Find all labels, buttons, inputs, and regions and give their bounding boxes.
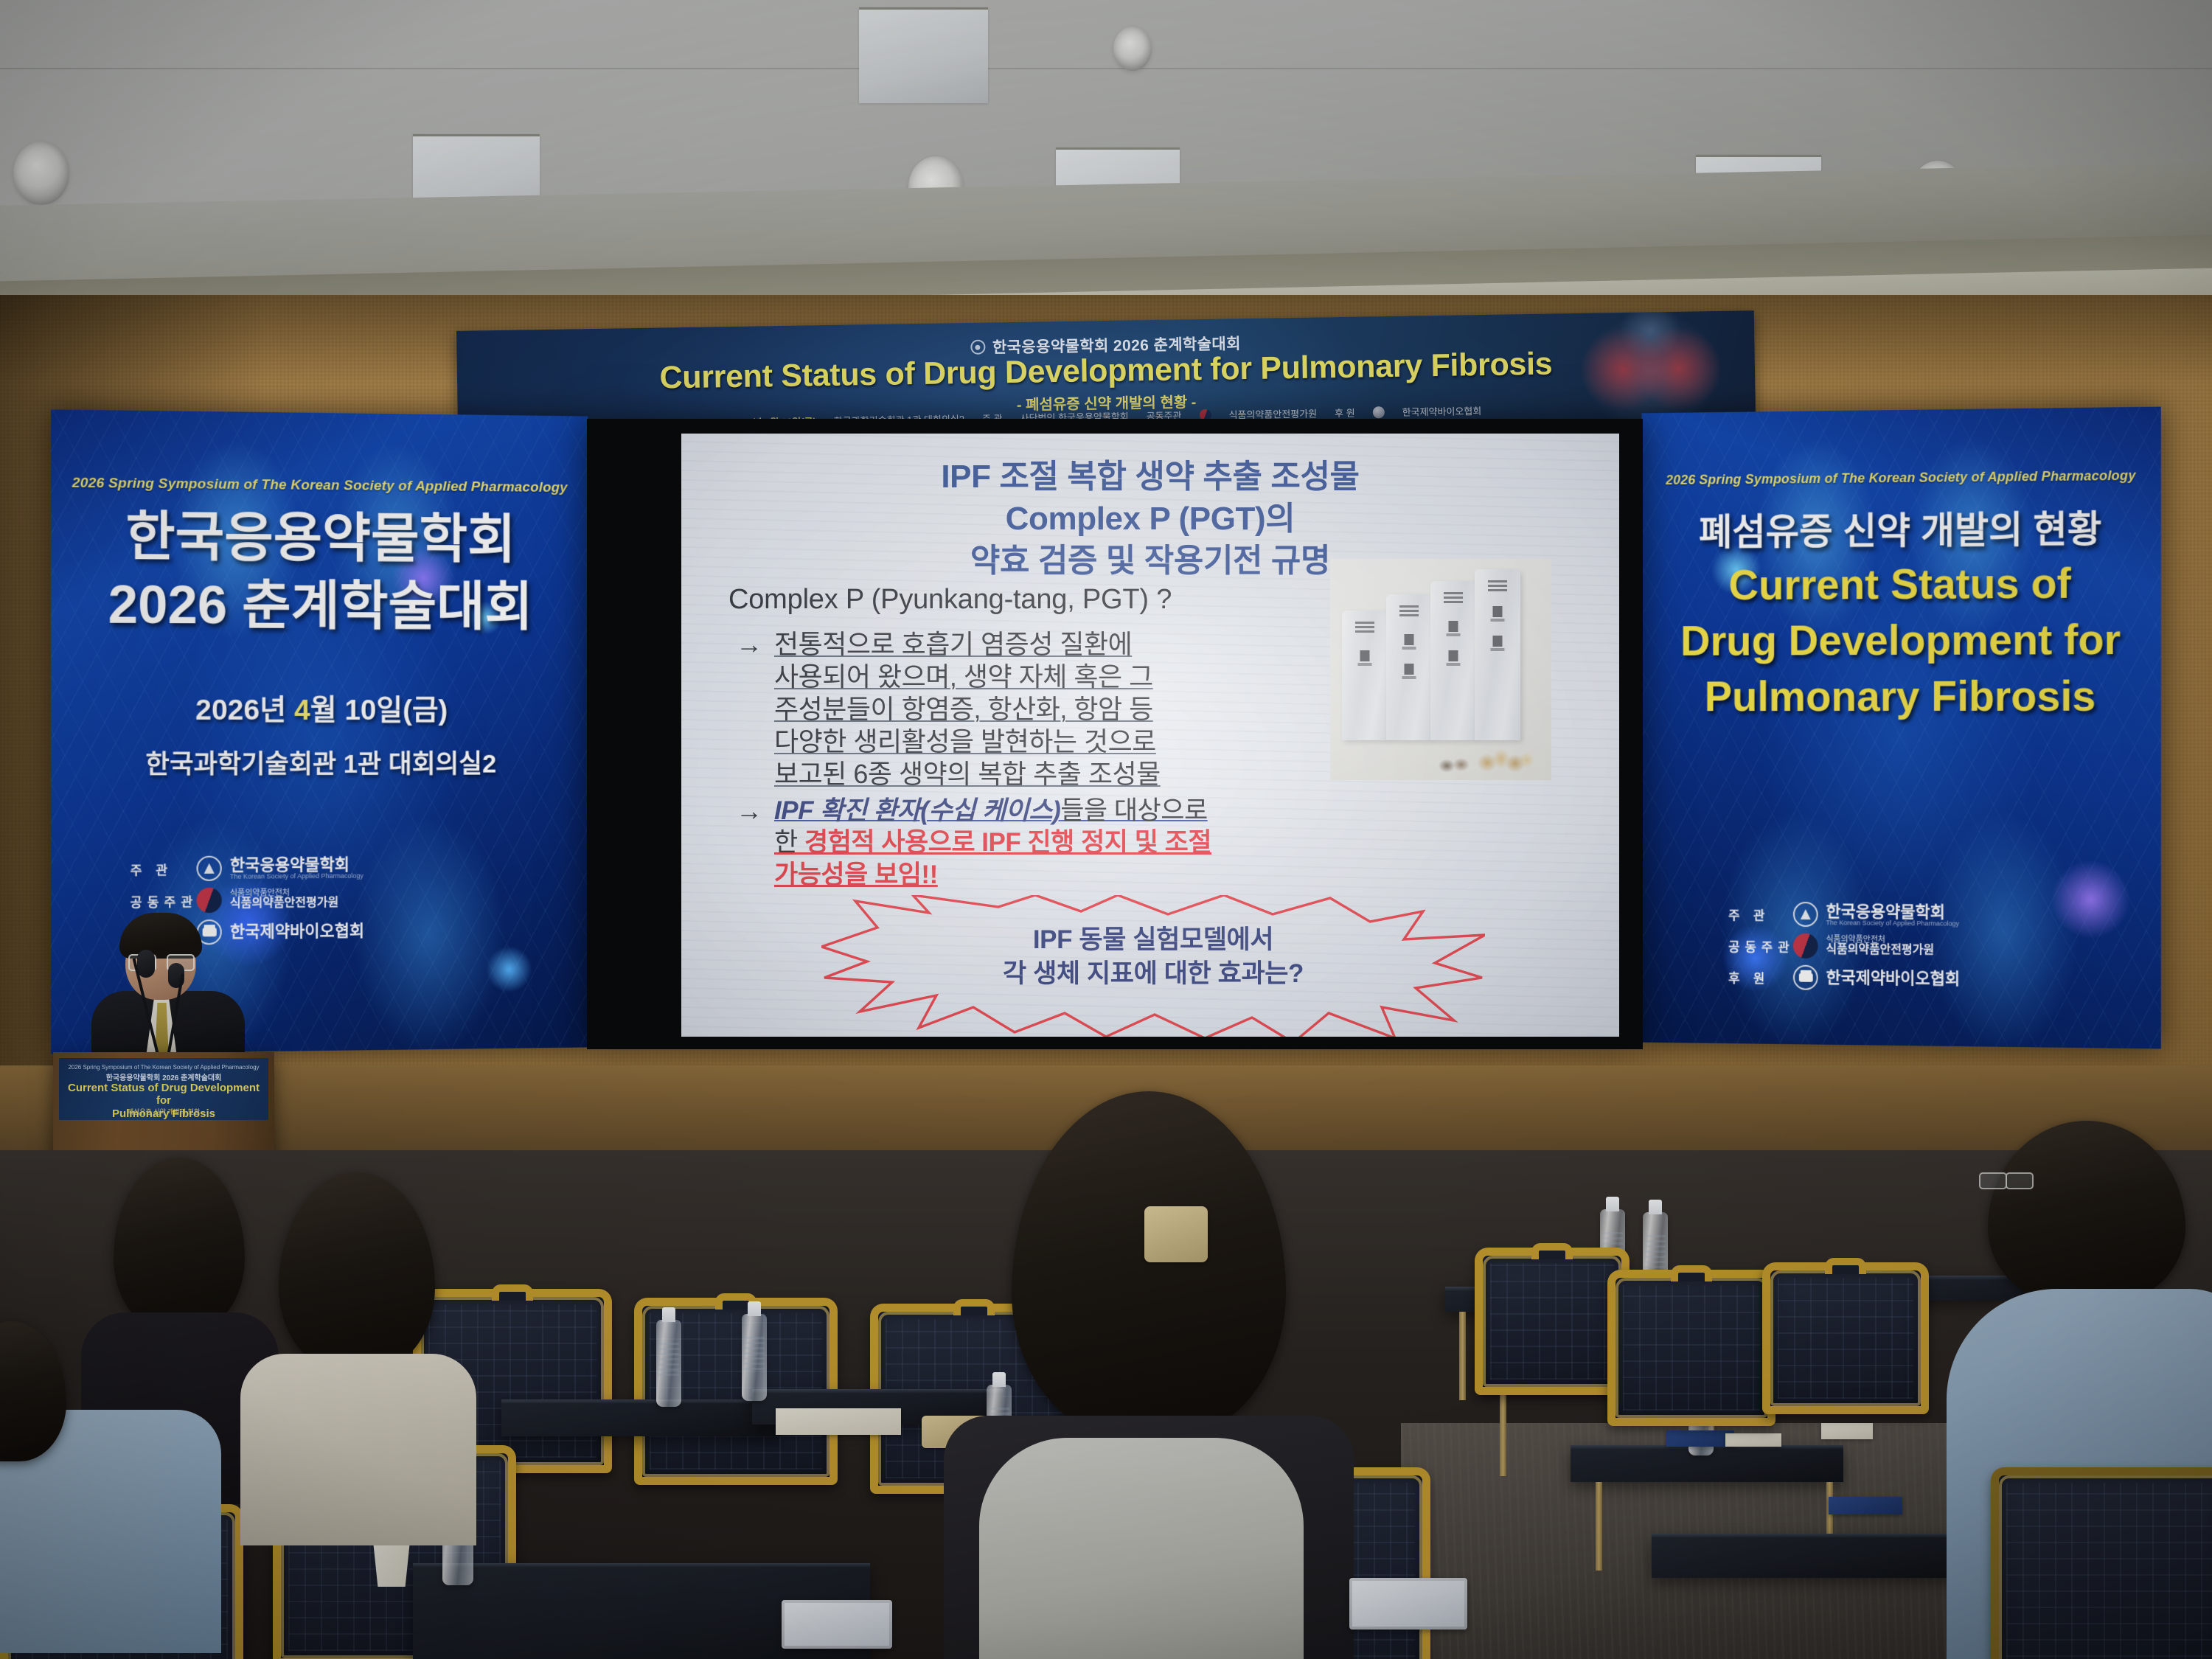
audience-member [936,1091,1349,1659]
slide-bullet-2-text: IPF 확진 환자(수십 케이스)들을 대상으로 한 경험적 사용으로 IPF … [774,795,1211,891]
chair [1762,1262,1929,1414]
callout-line-2: 각 생체 지표에 대한 효과는? [821,957,1485,991]
bullet2-italic-phrase: IPF 확진 환자(수십 케이스) [774,796,1060,825]
right-panel-title-en-2: Drug Development for [1641,615,2160,666]
sponsor-name-host-en: The Korean Society of Applied Pharmacolo… [1826,919,1960,928]
ceiling-vent [859,7,988,103]
ceiling-downlight [13,142,69,205]
ksap-emblem-icon [970,340,985,355]
chair [1991,1467,2212,1659]
sponsor-label-host: 주 관 [131,859,189,878]
sponsor-name-cohost: 식품의약품안전평가원 [230,897,338,911]
sponsor-name-cohost: 식품의약품안전평가원 [1826,945,1935,958]
chair [1607,1270,1775,1426]
handout-paper [1725,1433,1781,1447]
sponsor-label-cohost: 공동주관 [1728,936,1785,956]
glasses-icon [1979,1172,2034,1186]
right-led-display-panel: 2026 Spring Symposium of The Korean Soci… [1641,407,2160,1049]
banner-sponsor-name: 한국제약바이오협회 [1402,403,1481,419]
conference-room-photo: 한국응용약물학회 2026 춘계학술대회 Current Status of D… [0,0,2212,1659]
hair-clip-icon [1144,1206,1208,1262]
laptop [782,1600,892,1649]
sponsor-row-cohost: 공동주관 식품의약품안전처 식품의약품안전평가원 [131,887,364,914]
bullet2-line2-prefix: 한 [774,828,804,857]
slide-bullet-1: → 전통적으로 호흡기 염증성 질환에 사용되어 왔으며, 생약 자체 혹은 그… [736,628,1252,790]
kpbma-logo-icon [1373,406,1385,418]
audience-member [236,1172,479,1519]
speaker-hair [119,913,202,959]
ceiling-seam [0,68,2212,69]
left-panel-venue: 한국과학기술회관 1관 대회의실2 [51,743,588,782]
projected-slide: IPF 조절 복합 생약 추출 조성물 Complex P (PGT)의 약효 … [681,434,1619,1037]
slide-title-line2: Complex P (PGT)의 [681,498,1619,540]
handout-paper [1821,1423,1873,1439]
left-panel-title-line2: 2026 춘계학술대회 [51,575,588,637]
water-bottle [742,1314,767,1401]
korea-gov-icon [197,888,222,913]
bullet2-line3-red: 가능성을 보임!! [774,860,938,889]
sponsor-label-host: 주 관 [1728,905,1785,923]
ksap-emblem-icon [1793,902,1818,927]
lectern-line-1: 2026 Spring Symposium of The Korean Soci… [59,1064,268,1071]
sponsor-name-supporter: 한국제약바이오협회 [230,922,364,941]
slide-bullet-2: → IPF 확진 환자(수십 케이스)들을 대상으로 한 경험적 사용으로 IP… [736,795,1296,891]
right-panel-sponsor-block: 주 관 한국응용약물학회 The Korean Society of Appli… [1728,901,1960,991]
lectern-signage: 2026 Spring Symposium of The Korean Soci… [59,1058,268,1120]
ksap-emblem-icon [197,856,222,881]
bokeh-light [487,947,532,992]
right-panel-title-en-3: Pulmonary Fibrosis [1641,672,2160,721]
sponsor-row-host: 주 관 한국응용약물학회 The Korean Society of Appli… [131,855,364,882]
arrow-right-icon: → [736,795,762,891]
pouch-product-photo [1330,559,1551,780]
water-bottle [656,1320,681,1407]
program-booklet [1829,1497,1902,1514]
sponsor-row-cohost: 공동주관 식품의약품안전처 식품의약품안전평가원 [1728,933,1960,960]
right-panel-title-en-1: Current Status of [1641,559,2160,611]
starburst-callout: IPF 동물 실험모델에서 각 생체 지표에 대한 효과는? [821,895,1485,1037]
sponsor-row-host: 주 관 한국응용약물학회 The Korean Society of Appli… [1728,901,1960,928]
korea-gov-icon [1793,933,1818,959]
sponsor-name-host-en: The Korean Society of Applied Pharmacolo… [230,873,364,880]
projection-screen-frame: IPF 조절 복합 생약 추출 조성물 Complex P (PGT)의 약효 … [587,419,1643,1049]
ceiling-downlight [1113,27,1152,71]
dried-herb-light [1473,743,1537,776]
program-booklet [1666,1430,1734,1447]
dried-herb-dark [1435,755,1475,774]
sponsor-label-supporter: 후 원 [1728,967,1785,987]
callout-text: IPF 동물 실험모델에서 각 생체 지표에 대한 효과는? [821,923,1485,990]
microphone-icon [137,950,155,978]
banner-sponsor-label: 후 원 [1335,406,1355,420]
lectern-line-2: 한국응용약물학회 2026 춘계학술대회 [59,1071,268,1082]
slide-question-heading: Complex P (Pyunkang-tang, PGT) ? [728,584,1172,616]
lectern-line-4: - 폐섬유증 신약 개발의 현황 - [59,1107,268,1116]
audience-clothing-inner [979,1438,1304,1659]
laptop [1349,1578,1467,1630]
left-panel-title-line1: 한국응용약물학회 [51,507,588,570]
audience-clothing [240,1354,476,1545]
slide-bullet-1-text: 전통적으로 호흡기 염증성 질환에 사용되어 왔으며, 생약 자체 혹은 그 주… [774,628,1161,790]
bokeh-light [2052,860,2129,938]
bullet2-line2-red: 경험적 사용으로 IPF 진행 정지 및 조절 [804,828,1211,857]
chair [1475,1248,1630,1395]
sponsor-label-cohost: 공동주관 [131,891,189,911]
sponsor-name-host: 한국응용약물학회 [1826,902,1960,920]
table-row [1652,1534,1961,1578]
left-panel-date: 2026년 4월 10일(금) [51,686,588,728]
table-row [501,1399,782,1436]
handout-paper [776,1408,901,1435]
audience-member [0,1307,221,1646]
bullet2-plain-tail: 들을 대상으로 [1060,796,1207,825]
kpbma-logo-icon [1793,965,1818,990]
sponsor-row-supporter: 후 원 한국제약바이오협회 [1728,964,1960,992]
callout-line-1: IPF 동물 실험모델에서 [821,923,1485,957]
slide-title-line1: IPF 조절 복합 생약 추출 조성물 [681,456,1619,498]
arrow-right-icon: → [736,628,762,790]
sponsor-name-host: 한국응용약물학회 [230,855,364,873]
right-panel-title-kr: 폐섬유증 신약 개발의 현황 [1641,499,2160,557]
sponsor-name-supporter: 한국제약바이오협회 [1826,970,1961,988]
